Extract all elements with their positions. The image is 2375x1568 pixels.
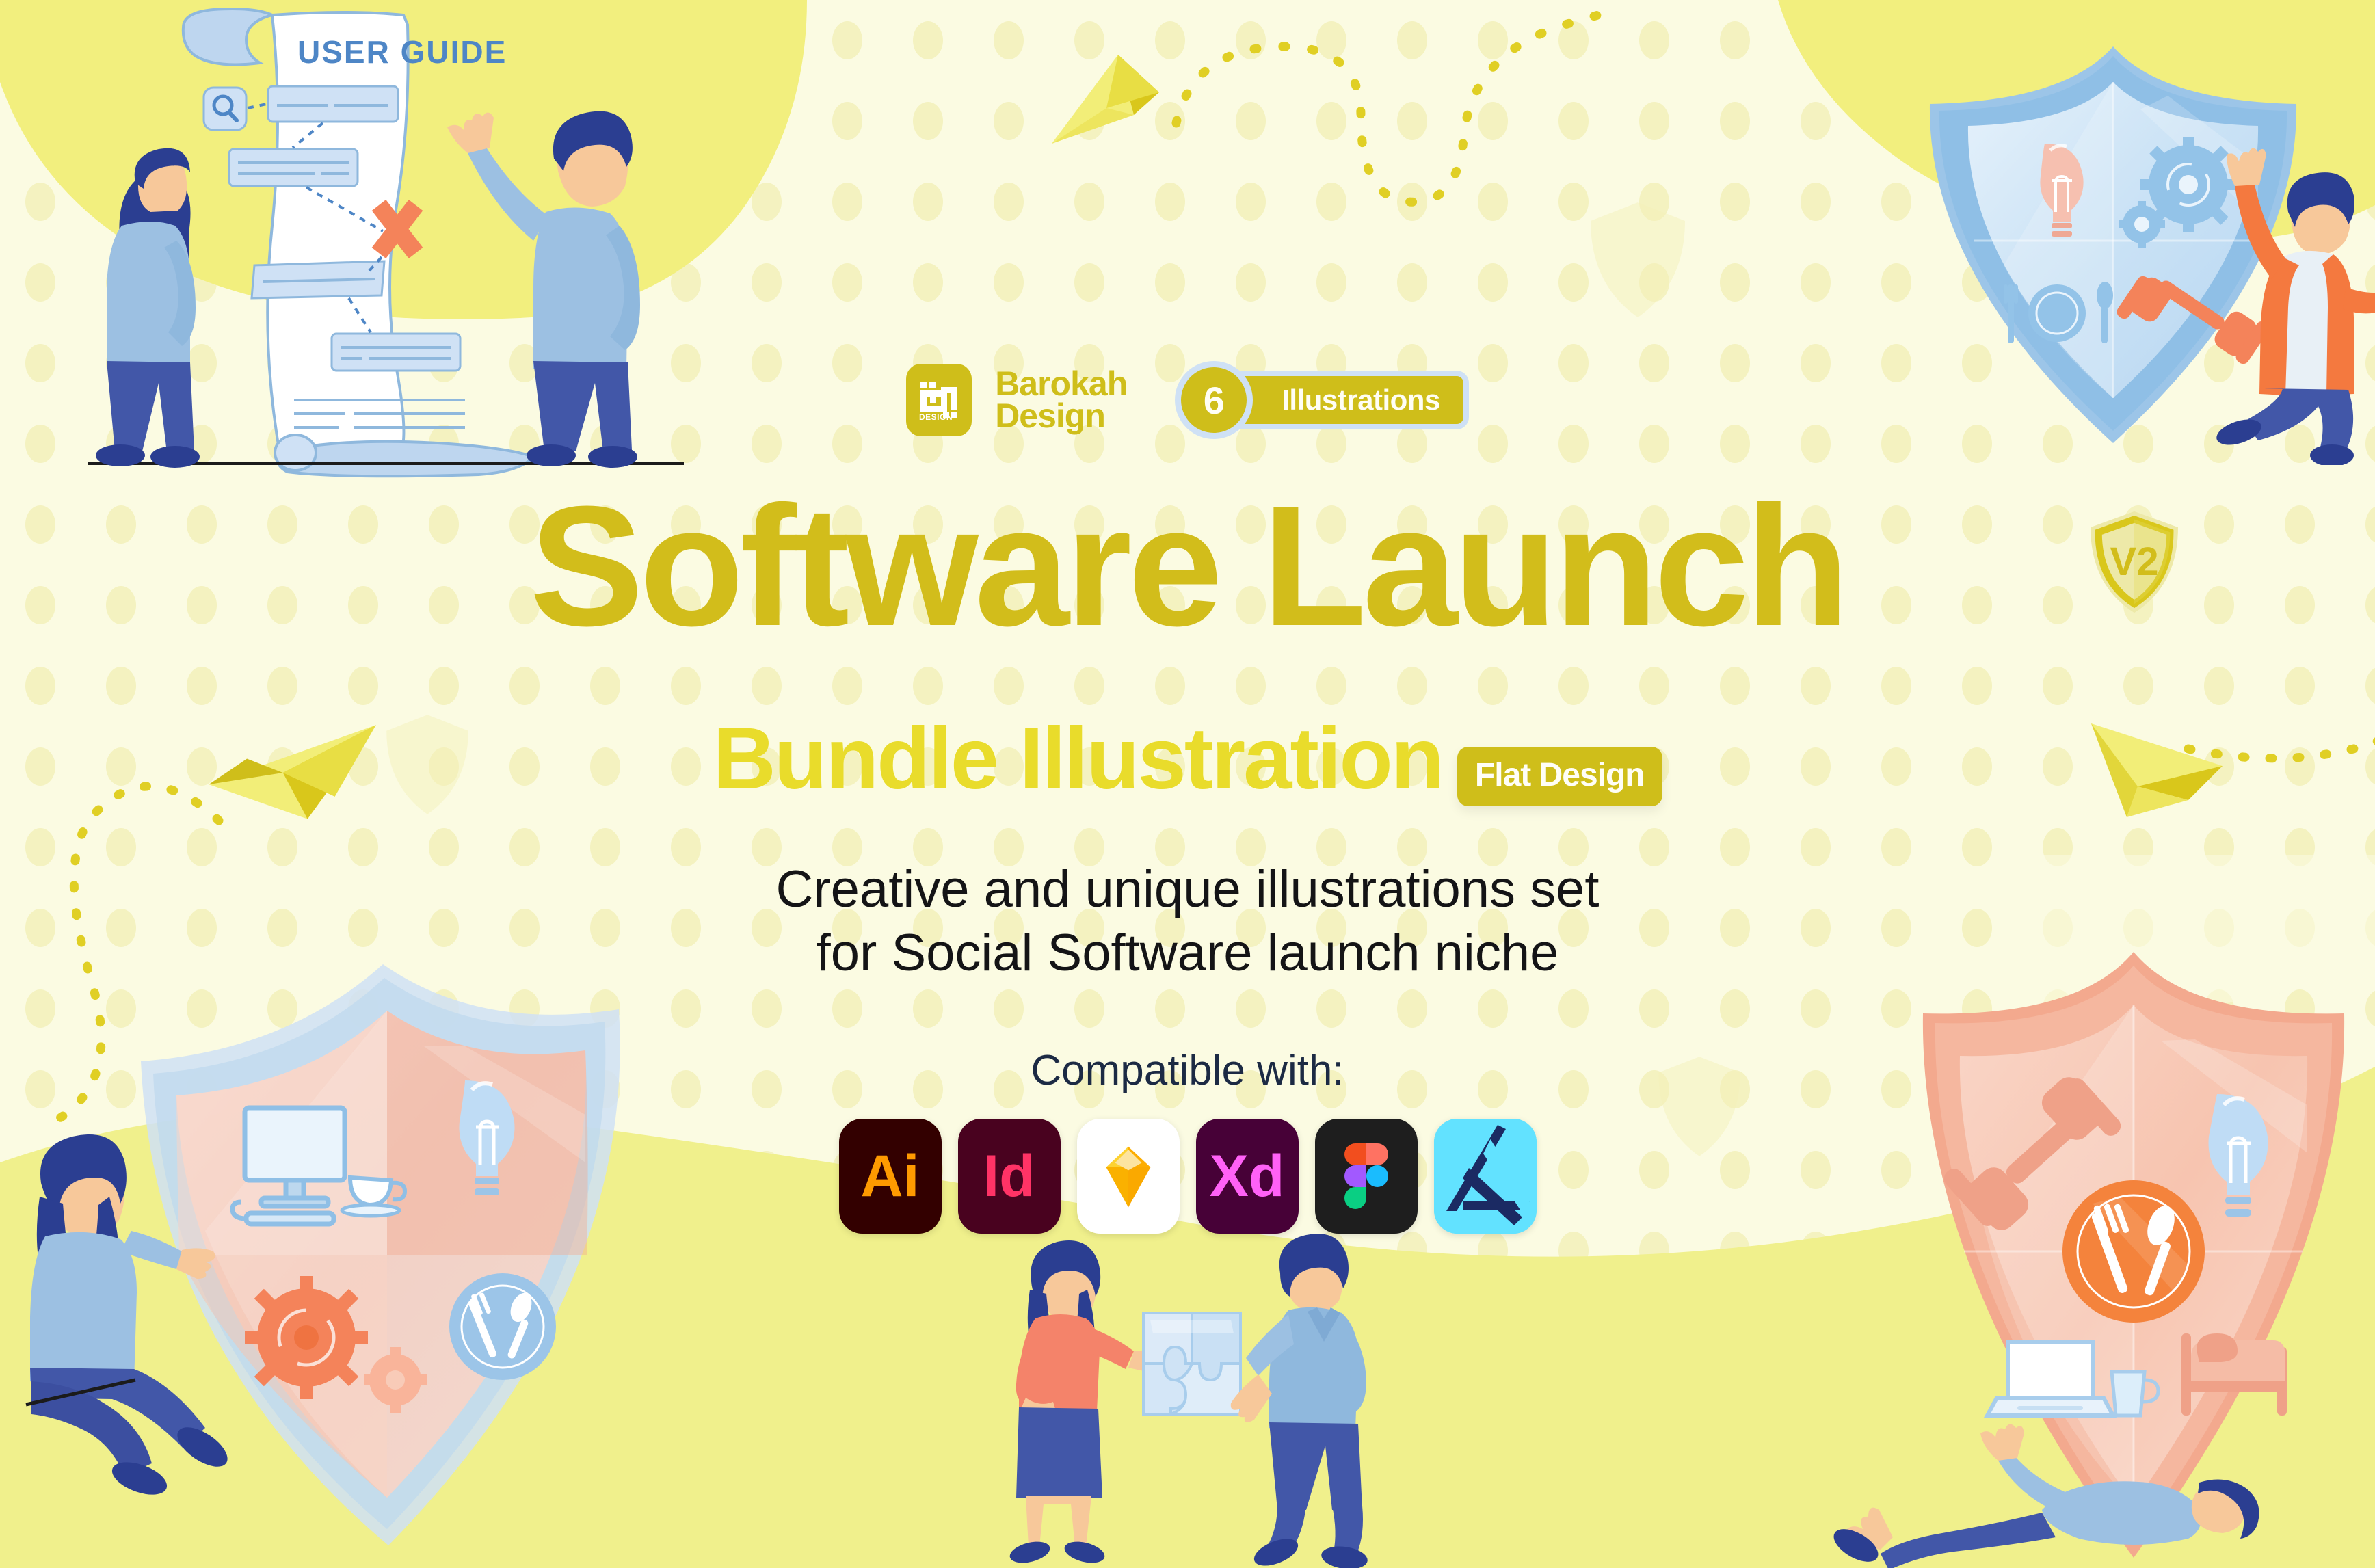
person-woman-standing	[1008, 1240, 1164, 1567]
dashed-trail-top	[1135, 7, 1655, 212]
page-title: Software Launch	[529, 481, 1845, 652]
brand-name: Barokah Design	[995, 368, 1127, 433]
xd-abbr: Xd	[1210, 1143, 1285, 1210]
figma-icon[interactable]	[1315, 1119, 1418, 1234]
flat-design-label: Flat Design	[1475, 757, 1645, 793]
count-label: Illustrations	[1282, 384, 1440, 416]
main-title-wrap: Software Launch	[0, 484, 2375, 648]
version-badge: V2	[2083, 507, 2186, 617]
logo-sub-label: DESIGN	[919, 412, 953, 422]
sketch-icon[interactable]	[1077, 1119, 1180, 1234]
count-pill: Illustrations	[1223, 371, 1469, 429]
person-man-holding-puzzle	[1231, 1234, 1369, 1568]
description: Creative and unique illustrations set fo…	[0, 858, 2375, 985]
svg-text:USER GUIDE: USER GUIDE	[297, 34, 507, 70]
description-line-2: for Social Software launch niche	[0, 922, 2375, 985]
four-piece-puzzle	[1143, 1313, 1240, 1414]
subtitle-wrap: Bundle Illustration Flat Design	[0, 708, 2375, 810]
flat-design-badge: Flat Design	[1457, 747, 1662, 806]
branding-row: DESIGN Barokah Design 6 Illustrations	[0, 362, 2375, 438]
illustration-count-badge: 6 Illustrations	[1175, 371, 1469, 429]
xd-icon[interactable]: Xd	[1196, 1119, 1299, 1234]
barokah-logo-icon: DESIGN	[906, 364, 972, 436]
laptop-icon	[1987, 1342, 2113, 1416]
count-number: 6	[1204, 378, 1225, 423]
indesign-abbr: Id	[983, 1143, 1035, 1210]
version-label: V2	[2110, 540, 2158, 584]
puzzle-collaboration-illustration	[957, 1210, 1436, 1568]
ghost-shield-top	[1587, 198, 1689, 321]
compatible-apps-row: Ai Id Xd	[0, 1111, 2375, 1241]
page-subtitle: Bundle Illustration	[713, 715, 1442, 803]
cutlery-plate-icon	[449, 1273, 556, 1380]
indesign-icon[interactable]: Id	[958, 1119, 1061, 1234]
paper-plane-top	[1046, 27, 1204, 150]
affinity-designer-icon[interactable]	[1434, 1119, 1537, 1234]
description-line-1: Creative and unique illustrations set	[0, 858, 2375, 922]
poster-canvas: USER GUIDE	[0, 0, 2375, 1568]
illustrator-abbr: Ai	[861, 1143, 920, 1210]
count-circle: 6	[1175, 361, 1253, 439]
illustrator-icon[interactable]: Ai	[839, 1119, 942, 1234]
compatible-with-label: Compatible with:	[0, 1046, 2375, 1095]
